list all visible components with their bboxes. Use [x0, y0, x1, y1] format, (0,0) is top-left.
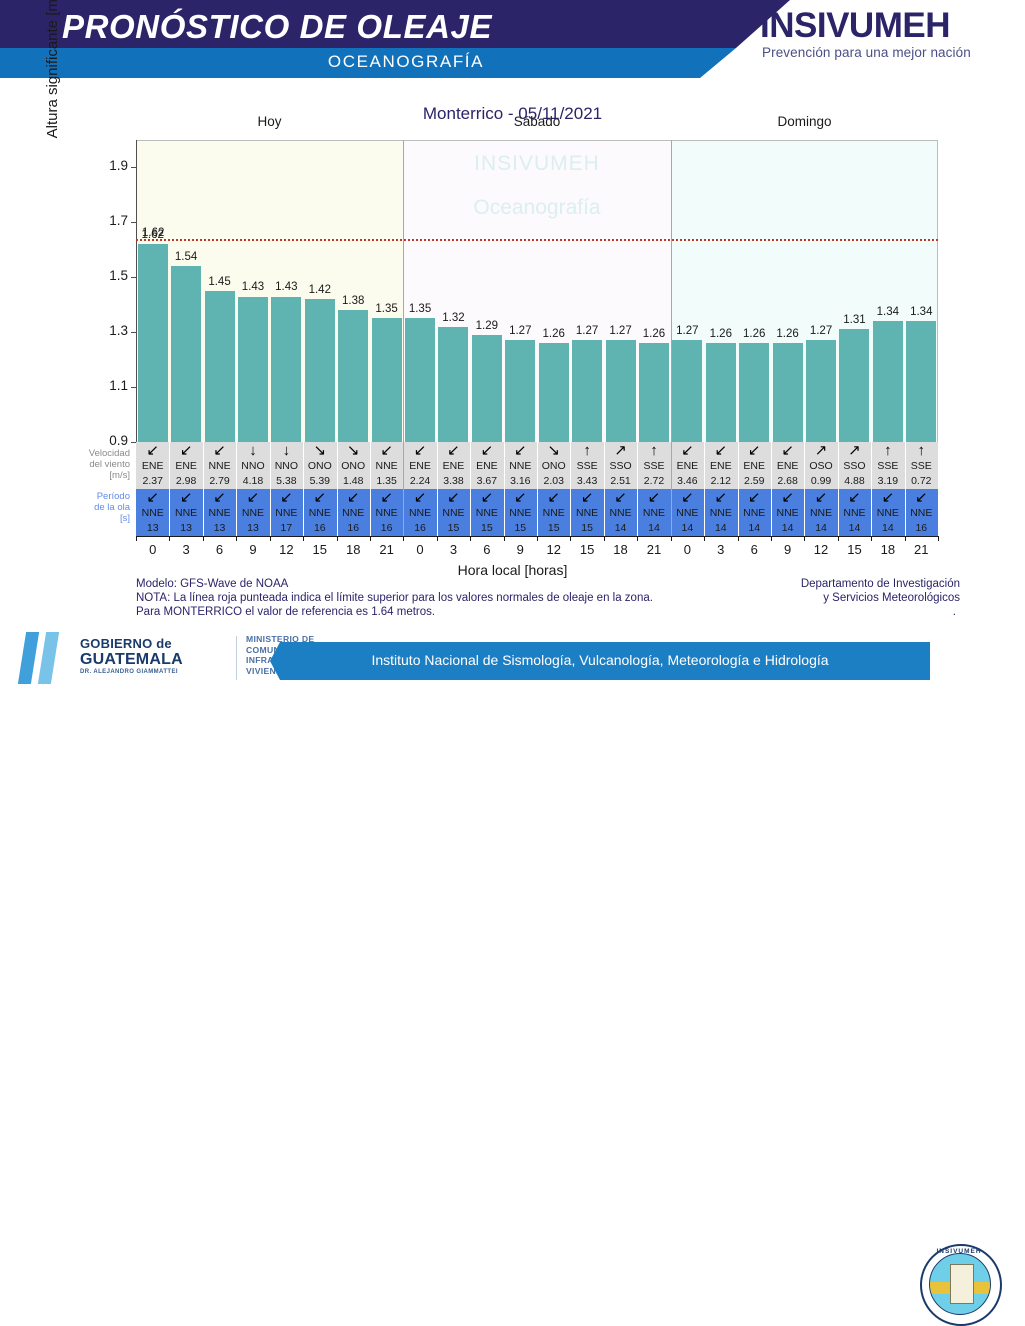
- wind-cell: ↑SSE3.19: [871, 442, 904, 489]
- x-tick-mark: [537, 536, 538, 541]
- wind-speed-value: 5.39: [303, 474, 336, 488]
- wind-direction-label: ONO: [537, 459, 570, 474]
- wave-height-bar: [773, 343, 803, 442]
- wind-cell: ↙ENE2.98: [169, 442, 202, 489]
- table-cell-separator: [704, 442, 705, 536]
- table-cell-separator: [871, 442, 872, 536]
- bar-value-label: 1.27: [568, 325, 606, 337]
- page-footer: GOBIERNO de GUATEMALA DR. ALEJANDRO GIAM…: [0, 620, 1025, 704]
- seal-label: INSIVUMEH: [920, 1248, 998, 1255]
- period-direction-arrow-icon: ↙: [570, 489, 603, 506]
- x-tick-label: 3: [171, 542, 201, 557]
- y-tick-mark: [131, 167, 136, 168]
- wind-direction-arrow-icon: ↙: [136, 442, 169, 459]
- wind-cell: ↙ENE2.59: [738, 442, 771, 489]
- bar-value-label: 1.35: [401, 303, 439, 315]
- period-direction-label: NNE: [838, 506, 871, 521]
- wind-speed-value: 0.72: [905, 474, 938, 488]
- period-direction-arrow-icon: ↙: [136, 489, 169, 506]
- bar-value-label: 1.26: [702, 328, 740, 340]
- wind-direction-label: ENE: [738, 459, 771, 474]
- x-tick-mark: [771, 536, 772, 541]
- wind-cell: ↙ENE2.24: [403, 442, 436, 489]
- gob-line-3: DR. ALEJANDRO GIAMMATTEI: [80, 669, 230, 675]
- seal-map-shape: [950, 1264, 974, 1304]
- x-tick-mark: [704, 536, 705, 541]
- wind-direction-label: SSO: [604, 459, 637, 474]
- period-value: 13: [236, 521, 269, 535]
- wind-direction-label: OSO: [804, 459, 837, 474]
- period-direction-arrow-icon: ↙: [504, 489, 537, 506]
- x-tick-label: 9: [505, 542, 535, 557]
- note-model: Modelo: GFS-Wave de NOAA: [136, 577, 736, 591]
- wind-direction-arrow-icon: ↙: [671, 442, 704, 459]
- table-cell-separator: [370, 442, 371, 536]
- period-value: 15: [437, 521, 470, 535]
- period-direction-label: NNE: [504, 506, 537, 521]
- bar-value-label: 1.43: [234, 281, 272, 293]
- wave-height-bar: [606, 340, 636, 442]
- wave-height-bar: [372, 318, 402, 442]
- wind-period-table: ↙ENE2.37↙NNE13↙ENE2.98↙NNE13↙NNE2.79↙NNE…: [136, 442, 938, 536]
- gob-line-2: GUATEMALA: [80, 651, 230, 669]
- wave-height-bar: [806, 340, 836, 442]
- period-direction-label: NNE: [370, 506, 403, 521]
- period-direction-label: NNE: [704, 506, 737, 521]
- bar-value-label: 1.35: [368, 303, 406, 315]
- period-direction-arrow-icon: ↙: [470, 489, 503, 506]
- period-value: 17: [270, 521, 303, 535]
- wind-cell: ↙ENE2.37: [136, 442, 169, 489]
- period-direction-label: NNE: [671, 506, 704, 521]
- period-cell: ↙NNE13: [136, 489, 169, 536]
- bar-value-label: 1.29: [468, 320, 506, 332]
- x-tick-label: 21: [372, 542, 402, 557]
- x-tick-label: 18: [606, 542, 636, 557]
- wave-height-bar: [338, 310, 368, 442]
- period-direction-arrow-icon: ↙: [537, 489, 570, 506]
- table-cell-separator: [637, 442, 638, 536]
- period-direction-label: NNE: [771, 506, 804, 521]
- wind-direction-label: NNO: [270, 459, 303, 474]
- x-tick-mark: [838, 536, 839, 541]
- period-value: 15: [504, 521, 537, 535]
- wave-height-bar: [839, 329, 869, 442]
- period-direction-label: NNE: [437, 506, 470, 521]
- wind-cell: ↘ONO5.39: [303, 442, 336, 489]
- wind-cell: ↓NNO5.38: [270, 442, 303, 489]
- period-direction-arrow-icon: ↙: [236, 489, 269, 506]
- period-cell: ↙NNE13: [203, 489, 236, 536]
- wind-direction-label: SSE: [637, 459, 670, 474]
- x-tick-mark: [337, 536, 338, 541]
- flag-bar-2: [38, 632, 59, 684]
- wind-direction-label: NNE: [504, 459, 537, 474]
- wind-cell: ↑SSE3.43: [570, 442, 603, 489]
- bar-value-label: 1.43: [267, 281, 305, 293]
- period-row-label-3: [s]: [44, 513, 130, 524]
- period-value: 13: [203, 521, 236, 535]
- x-tick-label: 15: [839, 542, 869, 557]
- wind-speed-value: 4.18: [236, 474, 269, 488]
- table-cell-separator: [671, 442, 672, 536]
- wind-cell: ↗SSO2.51: [604, 442, 637, 489]
- wind-cell: ↙ENE3.38: [437, 442, 470, 489]
- bar-value-label: 1.26: [735, 328, 773, 340]
- period-direction-arrow-icon: ↙: [337, 489, 370, 506]
- wind-direction-label: ENE: [771, 459, 804, 474]
- watermark-oceanografia: Oceanografía: [403, 196, 671, 220]
- wind-cell: ↙NNE3.16: [504, 442, 537, 489]
- wind-direction-label: NNO: [236, 459, 269, 474]
- wind-direction-arrow-icon: ↙: [203, 442, 236, 459]
- wind-speed-value: 3.46: [671, 474, 704, 488]
- table-cell-separator: [905, 442, 906, 536]
- period-cell: ↙NNE14: [671, 489, 704, 536]
- table-cell-separator: [403, 442, 404, 536]
- period-value: 16: [403, 521, 436, 535]
- y-tick-label: 1.9: [78, 158, 128, 173]
- period-direction-arrow-icon: ↙: [403, 489, 436, 506]
- wind-cell: ↗OSO0.99: [804, 442, 837, 489]
- wind-direction-arrow-icon: ↙: [470, 442, 503, 459]
- wind-cell: ↗SSO4.88: [838, 442, 871, 489]
- x-tick-label: 3: [438, 542, 468, 557]
- wind-speed-value: 3.67: [470, 474, 503, 488]
- wind-cell: ↑SSE0.72: [905, 442, 938, 489]
- x-tick-label: 3: [706, 542, 736, 557]
- period-direction-label: NNE: [738, 506, 771, 521]
- wind-direction-arrow-icon: ↗: [804, 442, 837, 459]
- wind-direction-arrow-icon: ↓: [270, 442, 303, 459]
- wave-height-bar: [205, 291, 235, 442]
- period-value: 16: [370, 521, 403, 535]
- wave-height-bar: [572, 340, 602, 442]
- footer-divider: [236, 636, 237, 680]
- y-tick-mark: [131, 332, 136, 333]
- bar-value-label: 1.31: [835, 314, 873, 326]
- wave-height-bar: [438, 327, 468, 442]
- period-cell: ↙NNE15: [537, 489, 570, 536]
- period-value: 14: [804, 521, 837, 535]
- period-direction-arrow-icon: ↙: [303, 489, 336, 506]
- y-axis-title: Altura significante [metros]: [44, 0, 61, 180]
- x-tick-mark: [236, 536, 237, 541]
- x-axis-right-cap: [938, 536, 939, 541]
- period-direction-arrow-icon: ↙: [804, 489, 837, 506]
- wind-speed-value: 2.03: [537, 474, 570, 488]
- period-value: 14: [604, 521, 637, 535]
- period-value: 14: [637, 521, 670, 535]
- bar-value-label: 1.26: [635, 328, 673, 340]
- wind-direction-arrow-icon: ↙: [504, 442, 537, 459]
- guatemala-flag-bars-icon: [22, 632, 70, 684]
- insivumeh-seal-icon: INSIVUMEH: [920, 1244, 998, 1322]
- reference-line: [136, 239, 938, 241]
- period-cell: ↙NNE17: [270, 489, 303, 536]
- wind-speed-value: 2.51: [604, 474, 637, 488]
- period-direction-arrow-icon: ↙: [270, 489, 303, 506]
- wave-height-bar: [906, 321, 936, 442]
- dept-line-3: .: [700, 605, 960, 619]
- bar-value-label: 1.27: [501, 325, 539, 337]
- x-tick-label: 0: [672, 542, 702, 557]
- table-cell-separator: [270, 442, 271, 536]
- table-cell-separator: [236, 442, 237, 536]
- period-value: 14: [838, 521, 871, 535]
- table-cell-separator: [303, 442, 304, 536]
- period-cell: ↙NNE14: [637, 489, 670, 536]
- y-tick-mark: [131, 277, 136, 278]
- x-tick-label: 15: [572, 542, 602, 557]
- day-label-hoy: Hoy: [136, 114, 403, 129]
- period-cell: ↙NNE14: [738, 489, 771, 536]
- period-cell: ↙NNE14: [804, 489, 837, 536]
- x-axis-title: Hora local [horas]: [0, 562, 1025, 578]
- period-direction-arrow-icon: ↙: [704, 489, 737, 506]
- bar-value-label: 1.38: [334, 295, 372, 307]
- chart-notes: Modelo: GFS-Wave de NOAA NOTA: La línea …: [136, 577, 736, 619]
- y-tick-label: 1.7: [78, 213, 128, 228]
- period-value: 13: [136, 521, 169, 535]
- wind-direction-label: ONO: [337, 459, 370, 474]
- bar-value-label: 1.34: [902, 306, 940, 318]
- x-tick-label: 21: [906, 542, 936, 557]
- x-tick-mark: [905, 536, 906, 541]
- period-row-label-2: de la ola: [44, 502, 130, 513]
- y-tick-label: 1.5: [78, 268, 128, 283]
- wind-direction-arrow-icon: ↙: [738, 442, 771, 459]
- plot-right-border: [937, 140, 938, 442]
- table-cell-separator: [771, 442, 772, 536]
- wind-direction-label: ENE: [470, 459, 503, 474]
- day-separator-1: [403, 140, 404, 442]
- bar-value-label: 1.27: [802, 325, 840, 337]
- wind-row-label-2: del viento: [44, 459, 130, 470]
- y-tick-label: 0.9: [78, 433, 128, 448]
- table-cell-separator: [537, 442, 538, 536]
- period-direction-label: NNE: [236, 506, 269, 521]
- period-value: 14: [771, 521, 804, 535]
- x-tick-mark: [804, 536, 805, 541]
- wind-speed-value: 2.12: [704, 474, 737, 488]
- table-cell-separator: [504, 442, 505, 536]
- wind-direction-label: SSE: [871, 459, 904, 474]
- table-cell-separator: [838, 442, 839, 536]
- seal-inner-disc: [929, 1253, 991, 1315]
- wind-direction-arrow-icon: ↑: [570, 442, 603, 459]
- wind-direction-arrow-icon: ↘: [537, 442, 570, 459]
- wave-height-bar: [238, 297, 268, 443]
- x-tick-label: 0: [138, 542, 168, 557]
- plot-area: INSIVUMEH Oceanografía Hoy Sábado Doming…: [136, 140, 938, 442]
- wind-direction-label: ENE: [169, 459, 202, 474]
- period-cell: ↙NNE13: [236, 489, 269, 536]
- x-tick-label: 12: [806, 542, 836, 557]
- wind-speed-value: 5.38: [270, 474, 303, 488]
- period-direction-label: NNE: [136, 506, 169, 521]
- x-tick-label: 9: [773, 542, 803, 557]
- period-value: 14: [738, 521, 771, 535]
- wind-cell: ↙NNE2.79: [203, 442, 236, 489]
- wind-speed-value: 4.88: [838, 474, 871, 488]
- bar-value-label: 1.27: [602, 325, 640, 337]
- period-cell: ↙NNE14: [771, 489, 804, 536]
- period-direction-arrow-icon: ↙: [203, 489, 236, 506]
- period-value: 13: [169, 521, 202, 535]
- period-direction-label: NNE: [470, 506, 503, 521]
- period-direction-arrow-icon: ↙: [604, 489, 637, 506]
- wind-direction-arrow-icon: ↙: [169, 442, 202, 459]
- wind-cell: ↙NNE1.35: [370, 442, 403, 489]
- wave-height-bar: [873, 321, 903, 442]
- y-tick-mark: [131, 387, 136, 388]
- period-value: 16: [337, 521, 370, 535]
- wind-direction-arrow-icon: ↗: [604, 442, 637, 459]
- period-direction-label: NNE: [403, 506, 436, 521]
- table-cell-separator: [470, 442, 471, 536]
- footer-institute-text: Instituto Nacional de Sismología, Vulcan…: [270, 652, 930, 668]
- y-tick-label: 1.1: [78, 378, 128, 393]
- day-label-sabado: Sábado: [403, 114, 671, 129]
- x-tick-mark: [871, 536, 872, 541]
- table-cell-separator: [203, 442, 204, 536]
- wind-speed-value: 2.68: [771, 474, 804, 488]
- wind-speed-value: 2.79: [203, 474, 236, 488]
- period-direction-arrow-icon: ↙: [169, 489, 202, 506]
- period-direction-label: NNE: [337, 506, 370, 521]
- period-cell: ↙NNE16: [403, 489, 436, 536]
- period-cell: ↙NNE16: [905, 489, 938, 536]
- period-direction-label: NNE: [804, 506, 837, 521]
- x-tick-label: 15: [305, 542, 335, 557]
- wind-cell: ↙ENE2.12: [704, 442, 737, 489]
- x-tick-mark: [671, 536, 672, 541]
- wind-cell: ↙ENE3.67: [470, 442, 503, 489]
- x-tick-mark: [203, 536, 204, 541]
- x-axis-left-cap: [136, 536, 137, 541]
- period-direction-arrow-icon: ↙: [771, 489, 804, 506]
- day-label-domingo: Domingo: [671, 114, 938, 129]
- period-direction-label: NNE: [203, 506, 236, 521]
- x-tick-label: 12: [539, 542, 569, 557]
- watermark-insivumeh: INSIVUMEH: [403, 152, 671, 176]
- x-tick-label: 6: [739, 542, 769, 557]
- x-tick-mark: [470, 536, 471, 541]
- x-tick-mark: [303, 536, 304, 541]
- x-tick-label: 0: [405, 542, 435, 557]
- wind-direction-label: ENE: [403, 459, 436, 474]
- bar-value-label: 1.54: [167, 251, 205, 263]
- wave-height-bar: [739, 343, 769, 442]
- period-direction-arrow-icon: ↙: [637, 489, 670, 506]
- x-tick-label: 6: [205, 542, 235, 557]
- period-cell: ↙NNE13: [169, 489, 202, 536]
- x-tick-mark: [504, 536, 505, 541]
- gob-line-1: GOBIERNO de: [80, 636, 230, 651]
- x-tick-label: 6: [472, 542, 502, 557]
- y-tick-mark: [131, 222, 136, 223]
- period-cell: ↙NNE14: [704, 489, 737, 536]
- y-tick-label: 1.3: [78, 323, 128, 338]
- bar-value-label: 1.45: [201, 276, 239, 288]
- wind-speed-value: 2.24: [403, 474, 436, 488]
- x-tick-mark: [570, 536, 571, 541]
- bar-value-label: 1.34: [869, 306, 907, 318]
- period-direction-label: NNE: [637, 506, 670, 521]
- period-direction-label: NNE: [905, 506, 938, 521]
- wave-height-bar: [472, 335, 502, 442]
- period-direction-arrow-icon: ↙: [437, 489, 470, 506]
- period-direction-label: NNE: [537, 506, 570, 521]
- x-tick-label: 18: [873, 542, 903, 557]
- bar-value-label: 1.32: [434, 312, 472, 324]
- note-warning: NOTA: La línea roja punteada indica el l…: [136, 591, 736, 605]
- period-direction-label: NNE: [169, 506, 202, 521]
- period-cell: ↙NNE14: [838, 489, 871, 536]
- table-cell-separator: [169, 442, 170, 536]
- wind-direction-arrow-icon: ↘: [337, 442, 370, 459]
- period-cell: ↙NNE14: [871, 489, 904, 536]
- plot-top-border: [136, 140, 938, 141]
- bar-value-label: 1.26: [535, 328, 573, 340]
- table-cell-separator: [804, 442, 805, 536]
- wind-direction-arrow-icon: ↑: [871, 442, 904, 459]
- wave-height-bar: [171, 266, 201, 442]
- wind-speed-value: 0.99: [804, 474, 837, 488]
- wave-height-bar: [405, 318, 435, 442]
- wave-height-bar: [138, 244, 168, 442]
- wind-direction-label: NNE: [203, 459, 236, 474]
- period-value: 15: [470, 521, 503, 535]
- period-cell: ↙NNE15: [570, 489, 603, 536]
- wind-direction-label: ENE: [704, 459, 737, 474]
- period-row-label-1: Período: [44, 491, 130, 502]
- wind-cell: ↘ONO2.03: [537, 442, 570, 489]
- x-tick-mark: [270, 536, 271, 541]
- period-cell: ↙NNE14: [604, 489, 637, 536]
- period-direction-label: NNE: [604, 506, 637, 521]
- bar-value-label: 1.26: [769, 328, 807, 340]
- period-value: 16: [303, 521, 336, 535]
- wind-speed-value: 2.37: [136, 474, 169, 488]
- period-cell: ↙NNE16: [303, 489, 336, 536]
- x-tick-mark: [637, 536, 638, 541]
- period-cell: ↙NNE15: [437, 489, 470, 536]
- period-direction-arrow-icon: ↙: [370, 489, 403, 506]
- period-value: 14: [671, 521, 704, 535]
- wave-height-bar: [271, 297, 301, 443]
- wind-direction-arrow-icon: ↙: [437, 442, 470, 459]
- period-direction-label: NNE: [871, 506, 904, 521]
- wind-direction-arrow-icon: ↘: [303, 442, 336, 459]
- wind-cell: ↑SSE2.72: [637, 442, 670, 489]
- period-value: 16: [905, 521, 938, 535]
- x-tick-mark: [403, 536, 404, 541]
- page-header: PRONÓSTICO DE OLEAJE OCEANOGRAFÍA INSIVU…: [0, 0, 1025, 90]
- period-direction-arrow-icon: ↙: [838, 489, 871, 506]
- x-tick-label: 9: [238, 542, 268, 557]
- wind-direction-label: ENE: [136, 459, 169, 474]
- table-cell-separator: [570, 442, 571, 536]
- wave-height-bar: [639, 343, 669, 442]
- wind-direction-label: ENE: [671, 459, 704, 474]
- period-direction-arrow-icon: ↙: [738, 489, 771, 506]
- table-cell-separator: [604, 442, 605, 536]
- wind-speed-value: 3.43: [570, 474, 603, 488]
- note-reference: Para MONTERRICO el valor de referencia e…: [136, 605, 736, 619]
- period-value: 15: [570, 521, 603, 535]
